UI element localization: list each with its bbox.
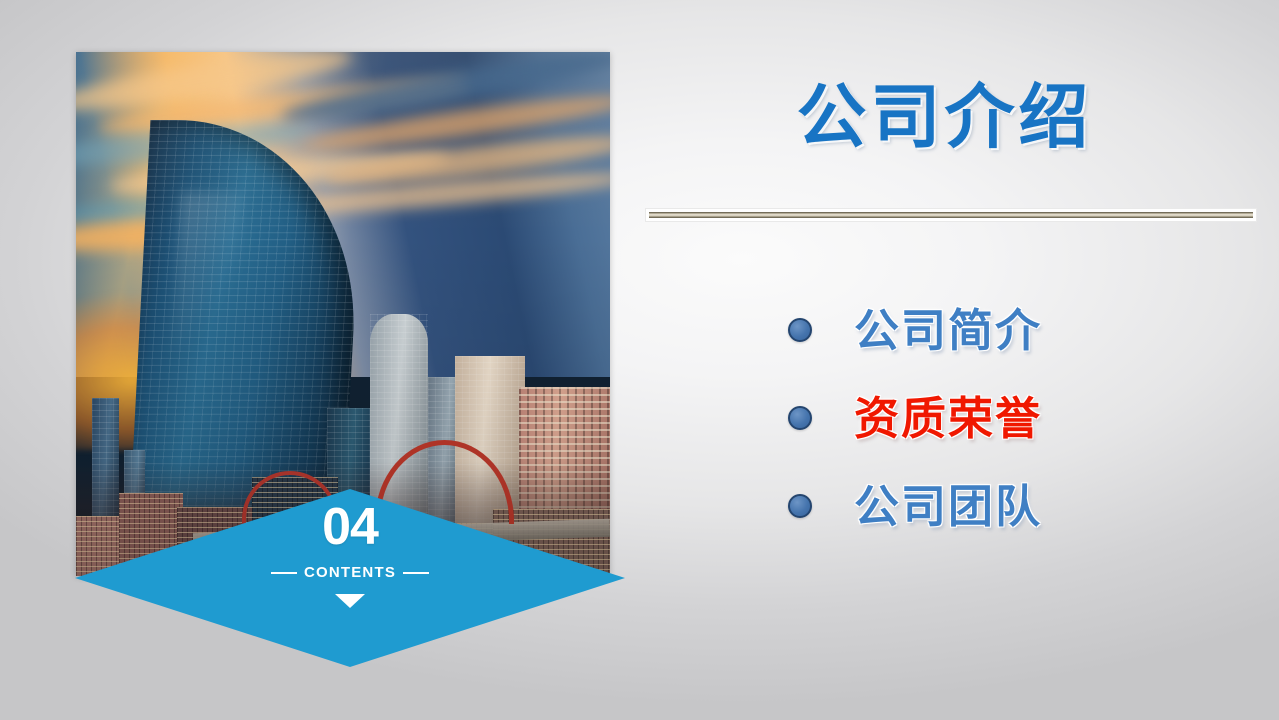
agenda-list: 公司简介 资质荣誉 公司团队 bbox=[788, 286, 1258, 550]
title-divider-inner bbox=[649, 212, 1253, 218]
bullet-circle-icon bbox=[788, 318, 812, 342]
right-panel: 公司介绍 公司简介 资质荣誉 公司团队 bbox=[640, 0, 1279, 720]
agenda-item-label: 资质荣誉 bbox=[854, 396, 1042, 441]
contents-label: CONTENTS bbox=[304, 564, 396, 581]
section-number: 04 bbox=[322, 501, 378, 553]
bullet-circle-icon bbox=[788, 494, 812, 518]
agenda-item-label: 公司团队 bbox=[854, 484, 1042, 529]
contents-rule-left bbox=[271, 572, 297, 574]
contents-label-row: CONTENTS bbox=[271, 564, 429, 581]
page-title: 公司介绍 bbox=[640, 82, 1249, 152]
contents-banner: 04 CONTENTS bbox=[75, 489, 625, 667]
agenda-item-2[interactable]: 资质荣誉 bbox=[788, 374, 1258, 462]
agenda-item-label: 公司简介 bbox=[854, 308, 1042, 353]
bullet-circle-icon bbox=[788, 406, 812, 430]
contents-rule-right bbox=[403, 572, 429, 574]
agenda-item-3[interactable]: 公司团队 bbox=[788, 462, 1258, 550]
down-triangle-icon bbox=[335, 594, 365, 608]
agenda-item-1[interactable]: 公司简介 bbox=[788, 286, 1258, 374]
title-divider bbox=[645, 208, 1257, 222]
